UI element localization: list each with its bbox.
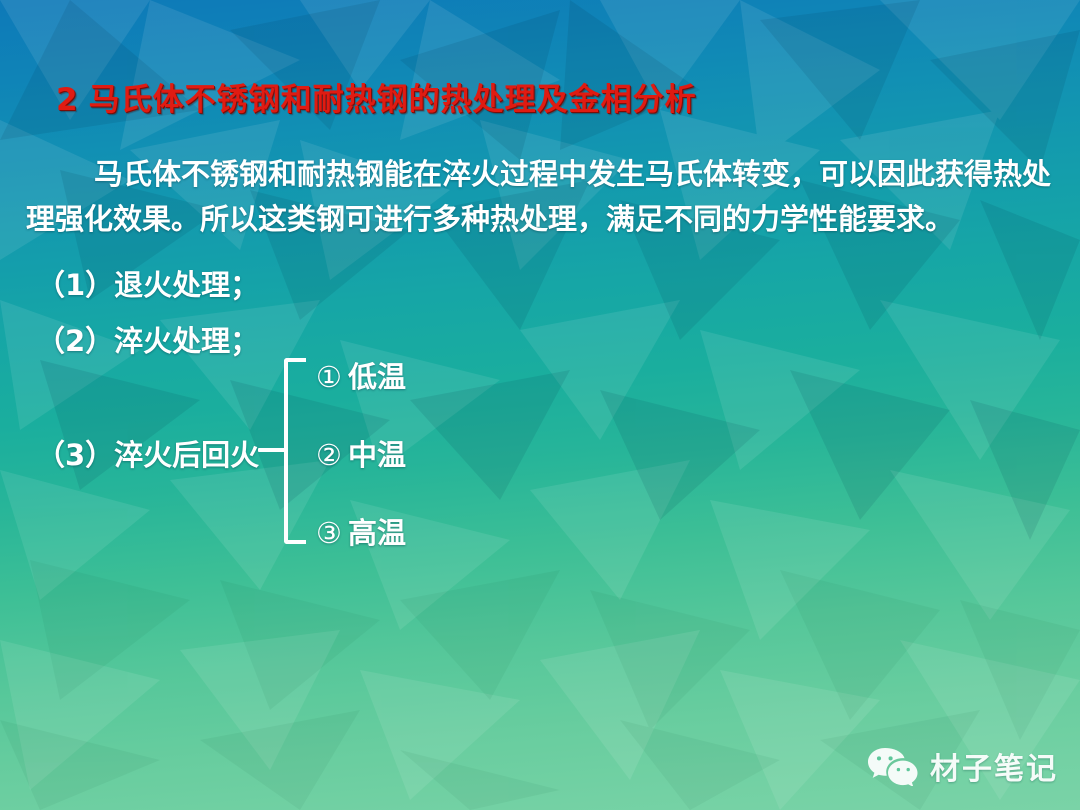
- list-item-3: （3）淬火后回火: [36, 432, 259, 474]
- low-poly-background: [0, 0, 1080, 810]
- wechat-icon: [866, 746, 918, 786]
- watermark: 材子笔记: [866, 744, 1058, 788]
- circled-number-3-icon: ③: [316, 516, 342, 550]
- slide-title-text: 马氏体不锈钢和耐热钢的热处理及金相分析: [89, 82, 697, 118]
- sub-item-1-label: 低温: [348, 360, 406, 394]
- slide-canvas: 2马氏体不锈钢和耐热钢的热处理及金相分析 马氏体不锈钢和耐热钢能在淬火过程中发生…: [0, 0, 1080, 810]
- sub-item-2-label: 中温: [348, 438, 406, 472]
- list-item-2: （2）淬火处理；: [36, 318, 259, 360]
- tempering-brace-group: ①低温 ②中温 ③高温: [258, 358, 458, 544]
- circled-number-1-icon: ①: [316, 360, 342, 394]
- sub-item-3-label: 高温: [348, 516, 406, 550]
- sub-item-1: ①低温: [316, 354, 406, 396]
- sub-item-3: ③高温: [316, 510, 406, 552]
- brace-bracket-icon: [284, 358, 306, 544]
- brace-connector-line: [258, 448, 286, 452]
- circled-number-2-icon: ②: [316, 438, 342, 472]
- slide-title-number: 2: [56, 82, 79, 118]
- slide-title: 2马氏体不锈钢和耐热钢的热处理及金相分析: [56, 74, 697, 119]
- watermark-label: 材子笔记: [930, 744, 1058, 788]
- sub-item-2: ②中温: [316, 432, 406, 474]
- list-item-1: （1）退火处理；: [36, 262, 259, 304]
- body-paragraph: 马氏体不锈钢和耐热钢能在淬火过程中发生马氏体转变，可以因此获得热处理强化效果。所…: [26, 152, 1056, 242]
